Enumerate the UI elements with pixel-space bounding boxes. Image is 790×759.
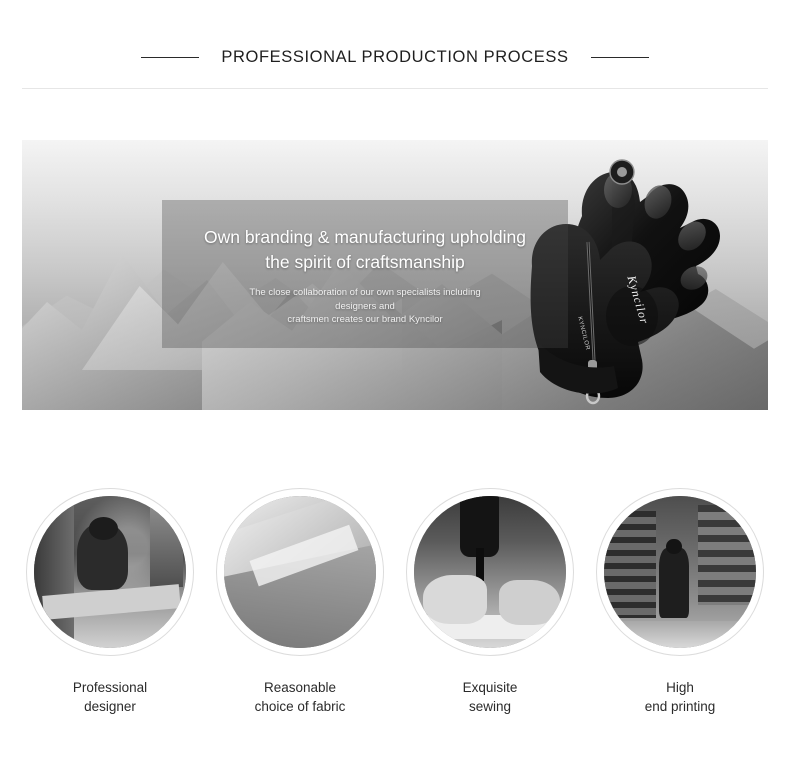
hero-subtext: The close collaboration of our own speci… (162, 286, 568, 327)
feature-caption-line-2: end printing (645, 697, 716, 716)
hero-subtext-line-2: designers and (162, 300, 568, 314)
feature-list: Professional designer Reasonable choice … (22, 488, 768, 716)
feature-caption: Professional designer (73, 678, 147, 716)
page-header: PROFESSIONAL PRODUCTION PROCESS (0, 0, 790, 96)
feature-caption-line-2: sewing (463, 697, 518, 716)
feature-caption-line-1: Reasonable (255, 678, 346, 697)
feature-caption-line-1: Professional (73, 678, 147, 697)
feature-item-exquisite-sewing: Exquisite sewing (402, 488, 578, 716)
feature-caption-line-1: High (645, 678, 716, 697)
feature-item-high-end-printing: High end printing (592, 488, 768, 716)
printing-workshop-photo (604, 496, 756, 648)
folded-fabric-photo (224, 496, 376, 648)
feature-image-circle (26, 488, 194, 656)
feature-caption-line-2: designer (73, 697, 147, 716)
feature-image-circle (216, 488, 384, 656)
feature-caption: Reasonable choice of fabric (255, 678, 346, 716)
feature-image-circle (596, 488, 764, 656)
feature-item-professional-designer: Professional designer (22, 488, 198, 716)
hero-banner: Kyncilor KYNCILOR Own branding & manufac… (22, 140, 768, 410)
hero-heading-line-1: Own branding & manufacturing upholding (162, 225, 568, 250)
feature-caption: High end printing (645, 678, 716, 716)
designer-at-workbench-photo (34, 496, 186, 648)
feature-caption-line-1: Exquisite (463, 678, 518, 697)
feature-caption: Exquisite sewing (463, 678, 518, 716)
header-rule-left (141, 57, 199, 58)
page-header-inner: PROFESSIONAL PRODUCTION PROCESS (141, 48, 648, 67)
sewing-machine-hands-photo (414, 496, 566, 648)
header-divider (22, 88, 768, 89)
feature-image-circle (406, 488, 574, 656)
feature-item-choice-of-fabric: Reasonable choice of fabric (212, 488, 388, 716)
hero-subtext-line-3: craftsmen creates our brand Kyncilor (162, 313, 568, 327)
page-title: PROFESSIONAL PRODUCTION PROCESS (221, 48, 568, 67)
hero-subtext-line-1: The close collaboration of our own speci… (162, 286, 568, 300)
header-rule-right (591, 57, 649, 58)
hero-heading: Own branding & manufacturing upholding t… (162, 225, 568, 275)
hero-heading-line-2: the spirit of craftsmanship (162, 250, 568, 275)
feature-caption-line-2: choice of fabric (255, 697, 346, 716)
